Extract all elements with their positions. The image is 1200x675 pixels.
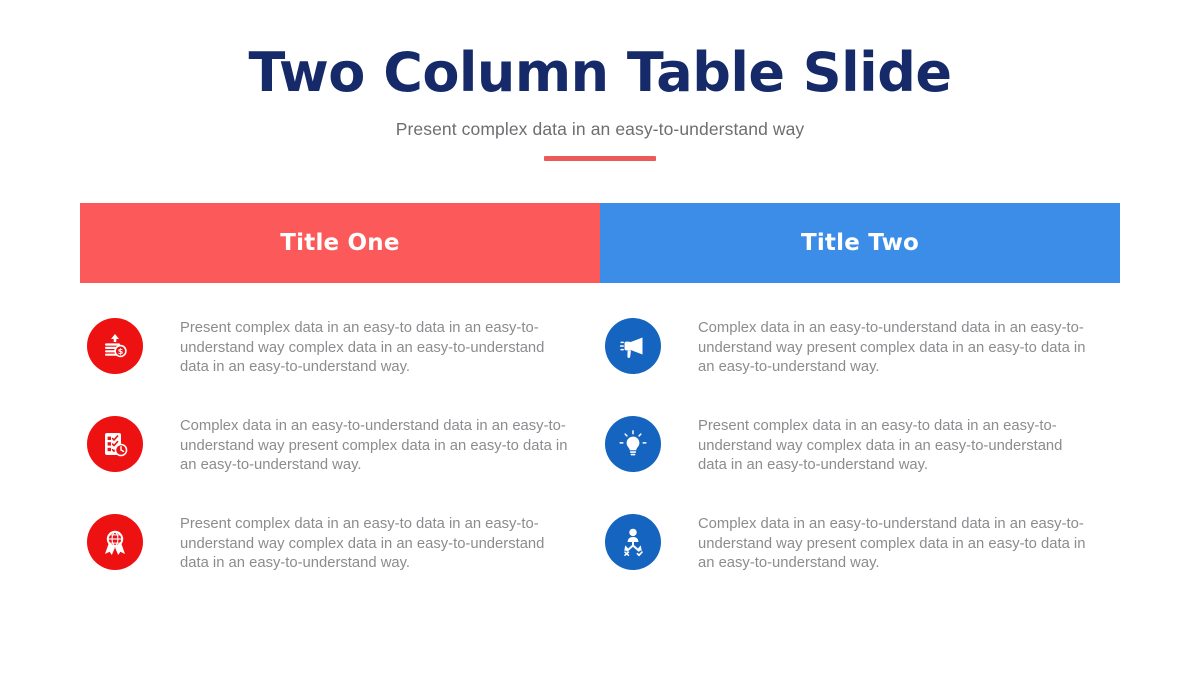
column-left: $ Present complex data in an easy-to dat… bbox=[80, 318, 600, 612]
title-accent-rule bbox=[544, 156, 656, 161]
list-item-text: Complex data in an easy-to-understand da… bbox=[180, 416, 570, 476]
lightbulb-idea-icon bbox=[605, 416, 661, 472]
column-right: Complex data in an easy-to-understand da… bbox=[600, 318, 1120, 612]
svg-text:$: $ bbox=[118, 347, 124, 356]
list-item-text: Complex data in an easy-to-understand da… bbox=[698, 318, 1093, 378]
content-columns: $ Present complex data in an easy-to dat… bbox=[80, 318, 1120, 612]
list-item[interactable]: Present complex data in an easy-to data … bbox=[80, 514, 600, 612]
checklist-clock-icon bbox=[87, 416, 143, 472]
list-item[interactable]: Complex data in an easy-to-understand da… bbox=[80, 416, 600, 514]
list-item-text: Complex data in an easy-to-understand da… bbox=[698, 514, 1093, 574]
person-decision-arrows-icon bbox=[605, 514, 661, 570]
column-header-right-label: Title Two bbox=[801, 230, 919, 256]
column-header-bars: Title One Title Two bbox=[80, 203, 1120, 283]
slide-canvas: Two Column Table Slide Present complex d… bbox=[0, 0, 1200, 675]
list-item-text: Present complex data in an easy-to data … bbox=[698, 416, 1093, 476]
column-header-right[interactable]: Title Two bbox=[600, 203, 1120, 283]
list-item[interactable]: Complex data in an easy-to-understand da… bbox=[600, 318, 1120, 416]
globe-award-badge-icon bbox=[87, 514, 143, 570]
list-item-text: Present complex data in an easy-to data … bbox=[180, 318, 570, 378]
money-stack-dollar-icon: $ bbox=[87, 318, 143, 374]
page-title: Two Column Table Slide bbox=[0, 45, 1200, 102]
column-header-left-label: Title One bbox=[280, 230, 399, 256]
list-item[interactable]: Present complex data in an easy-to data … bbox=[600, 416, 1120, 514]
page-subtitle: Present complex data in an easy-to-under… bbox=[0, 119, 1200, 140]
slide-header: Two Column Table Slide Present complex d… bbox=[0, 45, 1200, 161]
list-item[interactable]: $ Present complex data in an easy-to dat… bbox=[80, 318, 600, 416]
list-item-text: Present complex data in an easy-to data … bbox=[180, 514, 570, 574]
list-item[interactable]: Complex data in an easy-to-understand da… bbox=[600, 514, 1120, 612]
megaphone-icon bbox=[605, 318, 661, 374]
column-header-left[interactable]: Title One bbox=[80, 203, 600, 283]
